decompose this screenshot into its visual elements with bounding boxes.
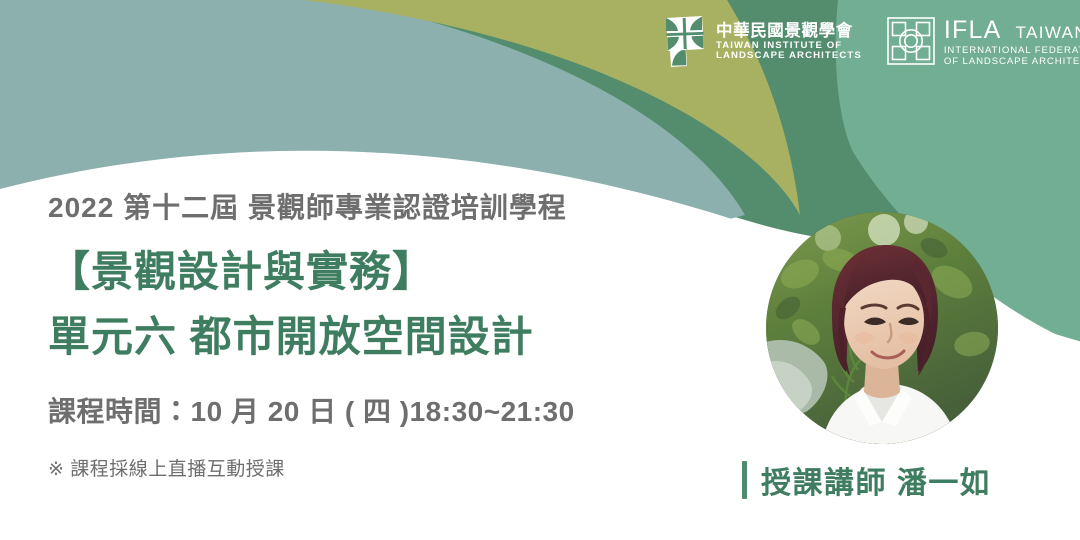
- instructor-name-label: 授課講師 潘一如: [761, 458, 991, 502]
- tila-english-line2: LANDSCAPE ARCHITECTS: [716, 51, 862, 62]
- course-banner: 中華民國景觀學會 TAIWAN INSTITUTE OF LANDSCAPE A…: [0, 0, 1080, 540]
- ifla-english-line1: INTERNATIONAL FEDERATION: [944, 45, 1080, 56]
- tila-logo: 中華民國景觀學會 TAIWAN INSTITUTE OF LANDSCAPE A…: [660, 16, 862, 68]
- instructor-caption: 授課講師 潘一如: [742, 458, 991, 502]
- course-title-line2: 單元六 都市開放空間設計: [48, 303, 575, 364]
- ifla-name: IFLA: [944, 16, 1002, 45]
- ifla-english-line2: OF LANDSCAPE ARCHITECTS: [944, 56, 1080, 67]
- ifla-square-circle-mark: [886, 16, 936, 66]
- tila-chinese-name: 中華民國景觀學會: [716, 22, 862, 40]
- course-time-line: 課程時間：10 月 20 日 ( 四 )18:30~21:30: [48, 390, 575, 430]
- ifla-wordmark: IFLA TAIWAN INTERNATIONAL FEDERATION OF …: [944, 16, 1080, 67]
- ifla-logo: IFLA TAIWAN INTERNATIONAL FEDERATION OF …: [886, 16, 1080, 67]
- accent-bar: [742, 461, 747, 499]
- tila-wordmark: 中華民國景觀學會 TAIWAN INSTITUTE OF LANDSCAPE A…: [716, 22, 862, 62]
- course-info-block: 2022 第十二屆 景觀師專業認證培訓學程 【景觀設計與實務】 單元六 都市開放…: [48, 186, 575, 481]
- course-note-line: ※ 課程採線上直播互動授課: [48, 454, 575, 481]
- course-title-line1: 【景觀設計與實務】: [48, 238, 575, 299]
- tila-leaf-mark: [660, 16, 708, 68]
- instructor-portrait: [766, 212, 998, 444]
- logo-strip: 中華民國景觀學會 TAIWAN INSTITUTE OF LANDSCAPE A…: [660, 16, 1080, 68]
- ifla-region: TAIWAN: [1015, 23, 1080, 43]
- course-series-line: 2022 第十二屆 景觀師專業認證培訓學程: [48, 186, 575, 226]
